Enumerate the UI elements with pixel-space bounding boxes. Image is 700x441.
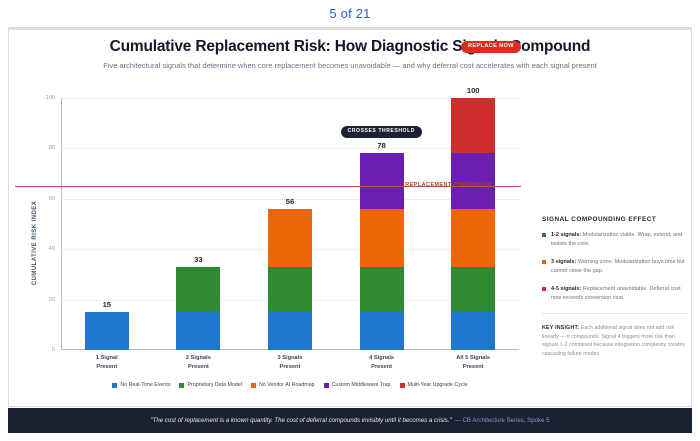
bar-total-label: 100 [451,86,495,95]
signal-band-dot-icon [542,287,546,291]
legend-swatch [251,383,256,388]
footer-bar: "The cost of replacement is a known quan… [8,408,692,433]
x-axis-label: 2 SignalsPresent [153,354,245,371]
chart-subtitle: Five architectural signals that determin… [9,61,691,70]
bar-segment[interactable] [176,267,220,312]
legend-label: Custom Middleware Trap [332,382,391,388]
signal-band-text: 3 signals: Warning zone. Modularization … [551,258,688,276]
signal-band-label: 3 signals: [551,259,576,265]
chart-header: Cumulative Replacement Risk: How Diagnos… [9,30,691,70]
legend-item[interactable]: Multi-Year Upgrade Cycle [400,382,468,388]
side-panel-items: 1-2 signals: Modularization viable. Wrap… [542,231,688,302]
legend-swatch [324,383,329,388]
bar-total-label: 56 [268,197,312,206]
bar-segment[interactable] [360,209,404,267]
key-insight-label: KEY INSIGHT: [542,325,579,331]
bar-segment[interactable] [360,267,404,312]
bar-group[interactable]: 56 [268,209,312,350]
chart-axes: 020406080100 15335678100 REPLACEMENT THR… [61,98,519,350]
signal-compounding-panel: SIGNAL COMPOUNDING EFFECT 1-2 signals: M… [542,216,688,358]
x-axis-label: 1 SignalPresent [61,354,153,371]
bar-segment[interactable] [451,153,495,208]
bar-group[interactable]: 100 [451,98,495,350]
bar-total-label: 33 [176,255,220,264]
signal-band-text: 1-2 signals: Modularization viable. Wrap… [551,231,688,249]
legend-swatch [179,383,184,388]
signal-band-label: 4-5 signals: [551,286,581,292]
y-tick-label: 100 [46,95,55,101]
legend-label: Multi-Year Upgrade Cycle [408,382,468,388]
x-axis-label: All 5 SignalsPresent [427,354,519,371]
legend-swatch [112,383,117,388]
bar-segment[interactable] [451,98,495,153]
y-tick-label: 0 [52,347,55,353]
legend-item[interactable]: No Real-Time Events [112,382,170,388]
signal-band-label: 1-2 signals: [551,232,581,238]
legend-label: No Real-Time Events [120,382,170,388]
signal-band-item: 1-2 signals: Modularization viable. Wrap… [542,231,688,249]
side-panel-title: SIGNAL COMPOUNDING EFFECT [542,216,688,223]
bar-total-label: 78 [360,141,404,150]
y-axis-title: CUMULATIVE RISK INDEX [32,188,38,298]
bar-segment[interactable] [360,153,404,208]
bar-group[interactable]: 15 [85,312,129,350]
signal-band-dot-icon [542,233,546,237]
bar-segment[interactable] [451,312,495,350]
signal-band-item: 4-5 signals: Replacement unavoidable. De… [542,285,688,303]
x-axis-label: 3 SignalsPresent [244,354,336,371]
footer-quote: "The cost of replacement is a known quan… [150,417,451,424]
y-tick-label: 40 [49,246,55,252]
bar-group[interactable]: 33 [176,267,220,350]
key-insight: KEY INSIGHT: Each additional signal does… [542,313,688,358]
signal-band-text: 4-5 signals: Replacement unavoidable. De… [551,285,688,303]
replacement-threshold-label: REPLACEMENT THRESHOLD [405,182,492,188]
bar-segment[interactable] [268,312,312,350]
plot-region: CUMULATIVE RISK INDEX 020406080100 15335… [9,90,529,400]
y-tick-label: 20 [49,297,55,303]
signal-band-dot-icon [542,260,546,264]
bar-segment[interactable] [268,209,312,267]
bar-segment[interactable] [268,267,312,312]
legend-item[interactable]: No Vendor AI Roadmap [251,382,315,388]
bar-segment[interactable] [360,312,404,350]
page-counter: 5 of 21 [0,0,700,24]
bar-segment[interactable] [451,267,495,312]
legend-label: No Vendor AI Roadmap [259,382,315,388]
legend-label: Proprietary Data Model [187,382,241,388]
bar-total-label: 15 [85,300,129,309]
legend-item[interactable]: Custom Middleware Trap [324,382,391,388]
x-axis-label: 4 SignalsPresent [336,354,428,371]
chart-card: Cumulative Replacement Risk: How Diagnos… [8,27,692,407]
page-title: Cumulative Replacement Risk: How Diagnos… [9,38,691,56]
chart-legend: No Real-Time EventsProprietary Data Mode… [61,382,519,388]
y-tick-label: 60 [49,196,55,202]
bar-segment[interactable] [451,209,495,267]
y-tick-label: 80 [49,145,55,151]
signal-band-item: 3 signals: Warning zone. Modularization … [542,258,688,276]
bar-group[interactable]: 78 [360,153,404,350]
legend-item[interactable]: Proprietary Data Model [179,382,241,388]
legend-swatch [400,383,405,388]
bar-segment[interactable] [176,312,220,350]
bar-series-container: 15335678100 [61,98,519,350]
crosses-threshold-badge: CROSSES THRESHOLD [341,126,422,137]
replace-now-badge: REPLACE NOW [461,41,521,53]
footer-attribution: — CB Architecture Series, Spoke 5 [455,417,550,424]
bar-segment[interactable] [85,312,129,350]
